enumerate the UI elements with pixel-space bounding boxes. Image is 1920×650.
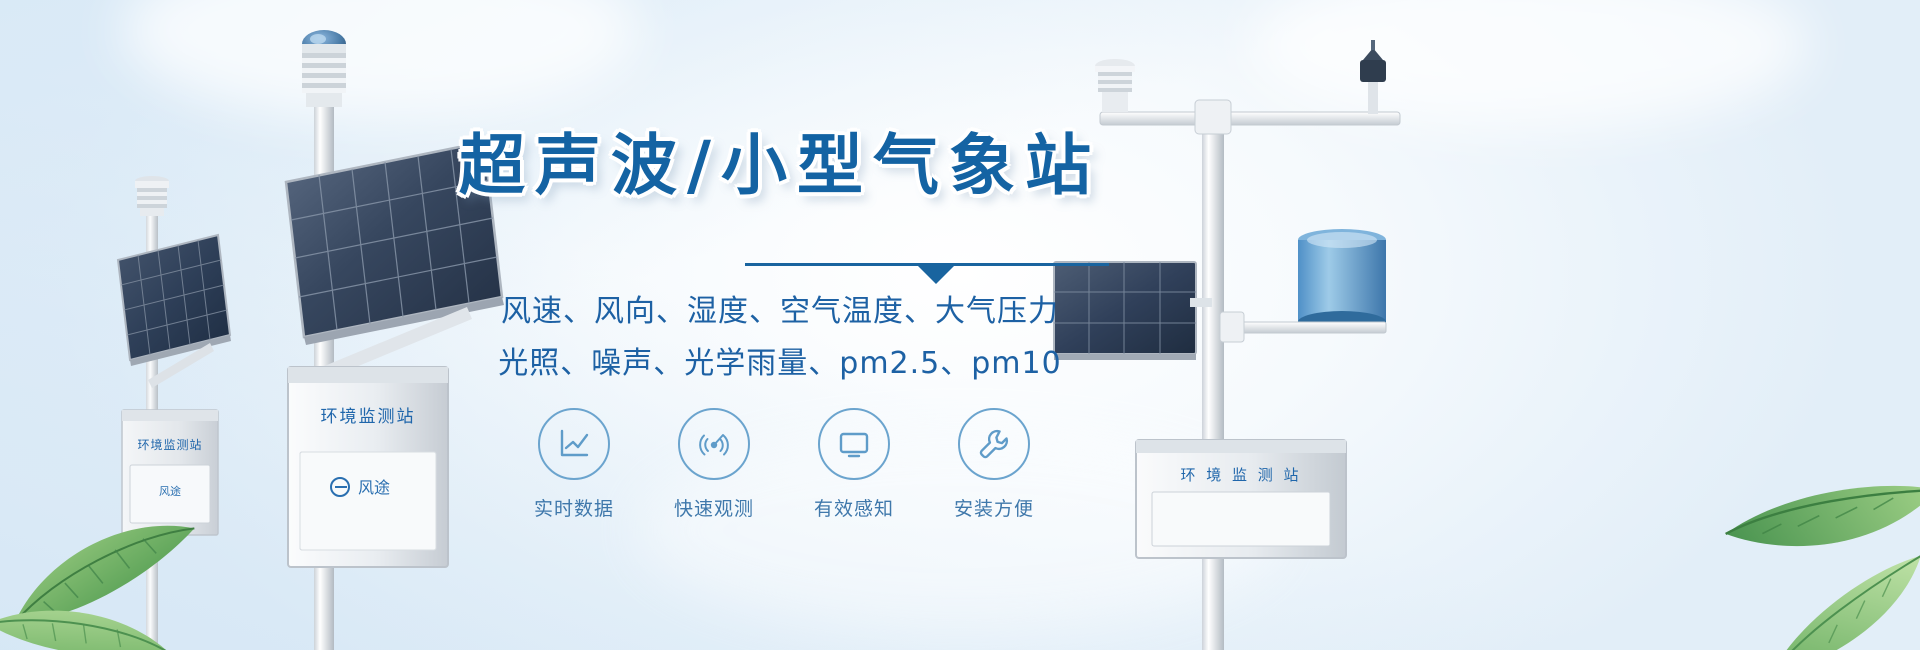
panel-mount-arm [1190, 298, 1212, 307]
feature-label: 快速观测 [674, 494, 754, 521]
wrench-icon [958, 408, 1030, 480]
cross-arm [1100, 112, 1400, 125]
gauge-shelf [1226, 322, 1386, 333]
title-divider [745, 263, 1109, 287]
feature-label: 实时数据 [534, 494, 614, 521]
feature-label: 有效感知 [814, 494, 894, 521]
subtitle-line-1: 风速、风向、湿度、空气温度、大气压力 [420, 286, 1140, 330]
rain-gauge [1298, 229, 1386, 333]
right-equipment-cabinet: 环 境 监 测 站 [1136, 440, 1346, 558]
monitor-icon [818, 408, 890, 480]
solar-panel [118, 235, 231, 366]
wind-vane-sensor [1360, 40, 1386, 114]
leaf-decor-right [1630, 400, 1920, 650]
weather-station-banner: 环境监测站 风途 [0, 0, 1920, 650]
ultrasonic-sensor-head [135, 176, 169, 216]
feature-item-realtime-data[interactable]: 实时数据 [514, 408, 634, 521]
feature-item-effective-sensing[interactable]: 有效感知 [794, 408, 914, 521]
cabinet-label-left-large: 环境监测站 [321, 407, 416, 427]
center-content: 超声波/小型气象站 风速、风向、湿度、空气温度、大气压力 光照、噪声、光学雨量、… [420, 0, 1140, 650]
feature-item-fast-observation[interactable]: 快速观测 [654, 408, 774, 521]
page-title: 超声波/小型气象站 [420, 112, 1140, 208]
arm-clamp-shelf [1220, 312, 1244, 342]
feature-label: 安装方便 [954, 494, 1034, 521]
leaf-decor-left [0, 440, 250, 650]
divider-triangle-icon [918, 266, 954, 284]
right-mast-pole [1202, 100, 1224, 650]
subtitle-line-2: 光照、噪声、光学雨量、pm2.5、pm10 [420, 338, 1140, 382]
feature-item-easy-installation[interactable]: 安装方便 [934, 408, 1054, 521]
brand-text-left-large: 风途 [358, 478, 390, 497]
feature-list: 实时数据 快速观测 [514, 408, 1054, 521]
arm-clamp-top [1195, 100, 1231, 134]
line-chart-icon [538, 408, 610, 480]
cabinet-label-right: 环 境 监 测 站 [1180, 466, 1301, 484]
radar-signal-icon [678, 408, 750, 480]
radiation-shield [302, 53, 346, 107]
